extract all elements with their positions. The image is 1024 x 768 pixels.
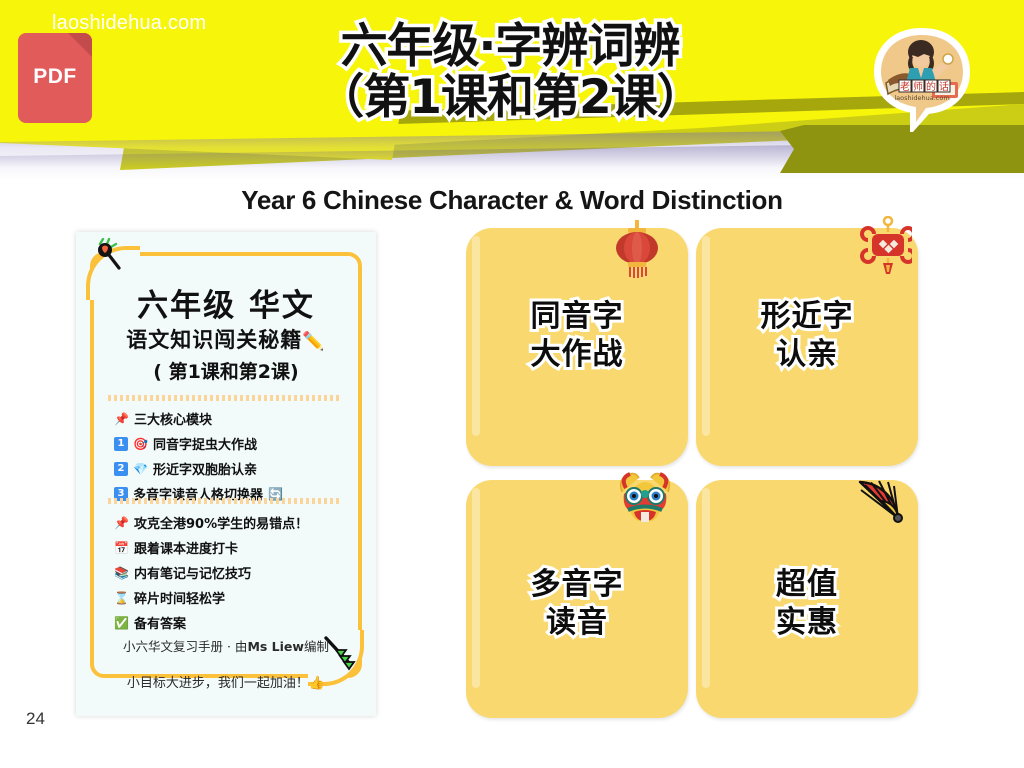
- feature-card-label: 多音字 读音: [466, 566, 688, 643]
- page-number: 24: [26, 709, 45, 729]
- brand-logo-icon: 老 师 的 话 laoshidehua.com: [872, 28, 972, 132]
- list-item: 📚 内有笔记与记忆技巧: [114, 562, 358, 583]
- page-title-line1: 六年级·字辨词辨: [240, 22, 780, 73]
- lion-dance-icon: [614, 466, 676, 528]
- feature-card-label: 同音字 大作战: [466, 298, 688, 375]
- poster-credit: 小六华文复习手册 · 由Ms Liew编制: [76, 636, 376, 655]
- feature-card-label: 形近字 认亲: [696, 298, 918, 375]
- check-box-icon: ✅: [114, 617, 129, 629]
- gem-icon: 💎: [133, 463, 148, 475]
- poster-divider-bottom: [108, 498, 340, 504]
- target-icon: 🎯: [133, 438, 148, 450]
- feature-card-label: 超值 实惠: [696, 566, 918, 643]
- svg-text:师: 师: [913, 80, 923, 93]
- list-item-label: 跟着课本进度打卡: [134, 538, 238, 557]
- magnifier-cursor-icon: [90, 238, 136, 284]
- list-item: ⌛ 碎片时间轻松学: [114, 587, 358, 608]
- svg-text:话: 话: [939, 81, 949, 93]
- svg-text:laoshidehua.com: laoshidehua.com: [894, 94, 949, 102]
- pushpin-icon: 📌: [114, 517, 129, 529]
- card-label-line2: 读音: [466, 604, 688, 642]
- books-icon: 📚: [114, 567, 129, 579]
- poster-subtitle: 语文知识闯关秘籍✏️: [76, 324, 376, 354]
- hourglass-icon: ⌛: [114, 592, 129, 604]
- website-url-label: laoshidehua.com: [52, 12, 206, 35]
- slide: PDF 六年级·字辨词辨 （第1课和第2课） laoshidehua.com: [0, 0, 1024, 768]
- brand-logo: 老 师 的 话 laoshidehua.com: [872, 28, 972, 132]
- svg-text:的: 的: [926, 80, 936, 93]
- feature-card-homophone[interactable]: 同音字 大作战: [466, 228, 688, 466]
- svg-text:老: 老: [900, 80, 910, 93]
- poster-thumbnail[interactable]: 六年级 华文 语文知识闯关秘籍✏️ ( 第1课和第2课) 📌 三大核心模块 1 …: [76, 232, 376, 716]
- feature-card-similar-form[interactable]: 形近字 认亲: [696, 228, 918, 466]
- list-number-badge: 1: [114, 437, 128, 451]
- list-item: 📌 三大核心模块: [114, 408, 358, 429]
- feature-card-polyphone[interactable]: 多音字 读音: [466, 480, 688, 718]
- card-label-line1: 超值: [696, 566, 918, 604]
- poster-subtitle-text: 语文知识闯关秘籍: [126, 328, 302, 352]
- page-title: 六年级·字辨词辨 （第1课和第2课）: [240, 22, 780, 124]
- pencil-icon: ✏️: [302, 331, 325, 352]
- list-item: ✅ 备有答案: [114, 612, 358, 633]
- pushpin-icon: 📌: [114, 413, 129, 425]
- slide-header: PDF 六年级·字辨词辨 （第1课和第2课） laoshidehua.com: [0, 0, 1024, 178]
- card-label-line2: 大作战: [466, 336, 688, 374]
- poster-title: 六年级 华文: [76, 280, 376, 325]
- list-item: 📅 跟着课本进度打卡: [114, 537, 358, 558]
- poster-lesson-range: ( 第1课和第2课): [76, 357, 376, 384]
- card-label-line1: 同音字: [466, 298, 688, 336]
- list-item-label: 攻克全港90%学生的易错点！: [134, 513, 308, 532]
- poster-slogan: 小目标大进步，我们一起加油！👍: [76, 672, 376, 691]
- poster-credit-suffix: 编制: [304, 639, 329, 654]
- poster-credit-prefix: 小六华文复习手册 · 由: [123, 639, 247, 654]
- pdf-badge-label: PDF: [18, 65, 92, 89]
- calendar-icon: 📅: [114, 542, 129, 554]
- list-item-label: 三大核心模块: [134, 409, 212, 428]
- card-label-line1: 形近字: [696, 298, 918, 336]
- website-ribbon: [780, 125, 1024, 173]
- list-item-label: 同音字捉虫大作战: [153, 434, 257, 453]
- poster-divider-top: [108, 395, 340, 401]
- list-item-label: 形近字双胞胎认亲: [153, 459, 257, 478]
- pdf-file-icon: PDF: [18, 33, 92, 123]
- card-label-line2: 实惠: [696, 604, 918, 642]
- list-item-label: 碎片时间轻松学: [134, 588, 225, 607]
- list-item: 📌 攻克全港90%学生的易错点！: [114, 512, 358, 533]
- slide-subtitle: Year 6 Chinese Character & Word Distinct…: [0, 185, 1024, 216]
- lantern-icon: [606, 220, 668, 282]
- poster-benefit-list: 📌 攻克全港90%学生的易错点！ 📅 跟着课本进度打卡 📚 内有笔记与记忆技巧 …: [114, 512, 358, 637]
- folding-fan-icon: [848, 470, 910, 532]
- card-label-line2: 认亲: [696, 336, 918, 374]
- list-item-label: 备有答案: [134, 613, 186, 632]
- list-item: 1 🎯 同音字捉虫大作战: [114, 433, 358, 454]
- chinese-knot-icon: [850, 216, 912, 278]
- list-item: 2 💎 形近字双胞胎认亲: [114, 458, 358, 479]
- list-item-label: 内有笔记与记忆技巧: [134, 563, 251, 582]
- page-title-line2: （第1课和第2课）: [240, 73, 780, 124]
- pdf-fold-corner: [68, 33, 92, 57]
- list-number-badge: 2: [114, 462, 128, 476]
- poster-module-list: 📌 三大核心模块 1 🎯 同音字捉虫大作战 2 💎 形近字双胞胎认亲 3 多音字…: [114, 408, 358, 508]
- card-label-line1: 多音字: [466, 566, 688, 604]
- feature-card-value[interactable]: 超值 实惠: [696, 480, 918, 718]
- feature-card-grid: 同音字 大作战: [466, 228, 950, 728]
- poster-credit-author: Ms Liew: [247, 639, 304, 654]
